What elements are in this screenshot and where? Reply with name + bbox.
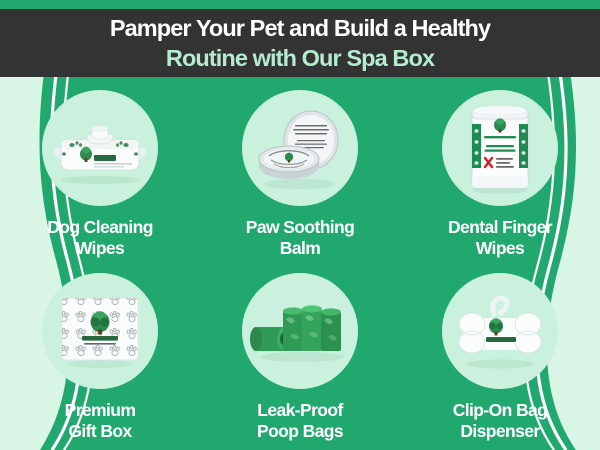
- product-item-leak-proof-poop-bags[interactable]: Leak-Proof Poop Bags: [200, 267, 400, 450]
- poop-bag-rolls-icon: [250, 295, 350, 367]
- roll-standing-1: [283, 307, 303, 351]
- title-line-1: Pamper Your Pet and Build a Healthy: [110, 13, 490, 43]
- header-banner: Pamper Your Pet and Build a Healthy Rout…: [0, 9, 600, 77]
- bag-tail: [493, 298, 507, 314]
- poster-canvas: Pamper Your Pet and Build a Healthy Rout…: [0, 0, 600, 450]
- dental-tub-icon: [459, 100, 541, 196]
- product-label: Dog Cleaning Wipes: [47, 217, 153, 259]
- product-image-circle: [442, 273, 558, 389]
- bone-dispenser-icon: [450, 290, 550, 372]
- product-label: Clip-On Bag Dispenser: [453, 400, 548, 442]
- product-item-clip-on-bag-dispenser[interactable]: Clip-On Bag Dispenser: [400, 267, 600, 450]
- product-label: Dental Finger Wipes: [448, 217, 552, 259]
- product-item-dog-cleaning-wipes[interactable]: Dog Cleaning Wipes: [0, 84, 200, 267]
- roll-standing-2: [302, 305, 322, 351]
- title-line-2: Routine with Our Spa Box: [166, 43, 434, 73]
- roll-standing-3: [321, 308, 341, 351]
- product-label: Leak-Proof Poop Bags: [257, 400, 343, 442]
- product-image-circle: [242, 90, 358, 206]
- product-item-dental-finger-wipes[interactable]: Dental Finger Wipes: [400, 84, 600, 267]
- product-label: Premium Gift Box: [65, 400, 136, 442]
- product-grid: Dog Cleaning Wipes: [0, 84, 600, 450]
- product-image-circle: [42, 273, 158, 389]
- product-image-circle: [42, 90, 158, 206]
- product-image-circle: [442, 90, 558, 206]
- product-item-paw-soothing-balm[interactable]: Paw Soothing Balm: [200, 84, 400, 267]
- top-green-strip: [0, 0, 600, 9]
- wipes-pack-icon: [48, 110, 152, 186]
- bone-body: [459, 313, 541, 353]
- product-image-circle: [242, 273, 358, 389]
- product-label: Paw Soothing Balm: [246, 217, 355, 259]
- product-item-premium-gift-box[interactable]: Premium Gift Box: [0, 267, 200, 450]
- balm-tins-icon: [251, 104, 349, 192]
- gift-box-icon: [56, 292, 144, 370]
